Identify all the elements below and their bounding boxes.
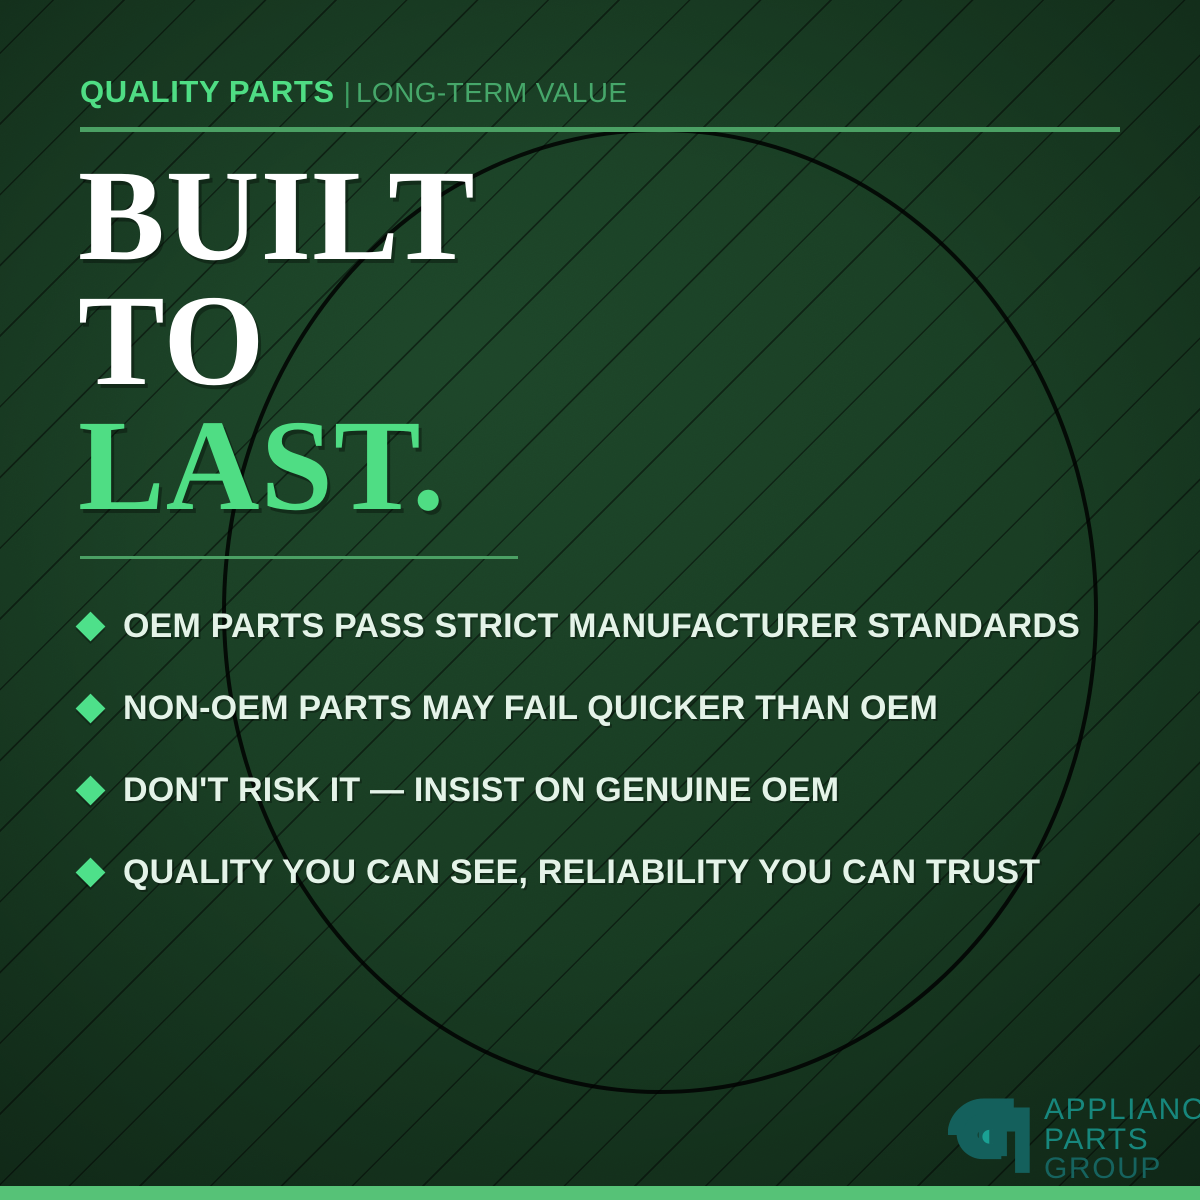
page-title: BUILT TO LAST. <box>78 154 476 528</box>
logo-word-line-3: GROUP <box>1044 1154 1200 1184</box>
headline-line-1: BUILT <box>78 154 476 279</box>
list-item-label: OEM PARTS PASS STRICT MANUFACTURER STAND… <box>123 607 1080 646</box>
headline-divider-rule <box>80 556 518 559</box>
list-item: QUALITY YOU CAN SEE, RELIABILITY YOU CAN… <box>80 831 1150 913</box>
list-item: DON'T RISK IT — INSIST ON GENUINE OEM <box>80 749 1150 831</box>
list-item-label: QUALITY YOU CAN SEE, RELIABILITY YOU CAN… <box>123 853 1040 892</box>
logo-g-mark-icon <box>948 1092 1034 1178</box>
kicker-light-text: LONG-TERM VALUE <box>356 77 628 108</box>
bottom-accent-bar <box>0 1186 1200 1200</box>
promo-poster: QUALITY PARTS|LONG-TERM VALUE BUILT TO L… <box>0 0 1200 1200</box>
list-item: OEM PARTS PASS STRICT MANUFACTURER STAND… <box>80 585 1150 667</box>
diamond-bullet-icon <box>76 693 106 723</box>
headline-line-2: TO <box>78 279 476 404</box>
brand-logo: APPLIANCE PARTS GROUP <box>948 1092 1200 1184</box>
diamond-bullet-icon <box>76 611 106 641</box>
headline-line-3: LAST. <box>78 404 476 529</box>
kicker: QUALITY PARTS|LONG-TERM VALUE <box>80 76 627 107</box>
header-divider-rule <box>80 127 1120 132</box>
diamond-bullet-icon <box>76 857 106 887</box>
logo-word-line-1: APPLIANCE <box>1044 1095 1200 1125</box>
kicker-strong-text: QUALITY PARTS <box>80 74 335 109</box>
kicker-separator: | <box>344 77 351 108</box>
list-item-label: NON-OEM PARTS MAY FAIL QUICKER THAN OEM <box>123 689 938 728</box>
benefit-list: OEM PARTS PASS STRICT MANUFACTURER STAND… <box>80 585 1150 913</box>
list-item-label: DON'T RISK IT — INSIST ON GENUINE OEM <box>123 771 839 810</box>
diamond-bullet-icon <box>76 775 106 805</box>
logo-wordmark: APPLIANCE PARTS GROUP <box>1044 1092 1200 1184</box>
list-item: NON-OEM PARTS MAY FAIL QUICKER THAN OEM <box>80 667 1150 749</box>
logo-word-line-2: PARTS <box>1044 1125 1200 1155</box>
poster-content: QUALITY PARTS|LONG-TERM VALUE BUILT TO L… <box>0 0 1200 1200</box>
